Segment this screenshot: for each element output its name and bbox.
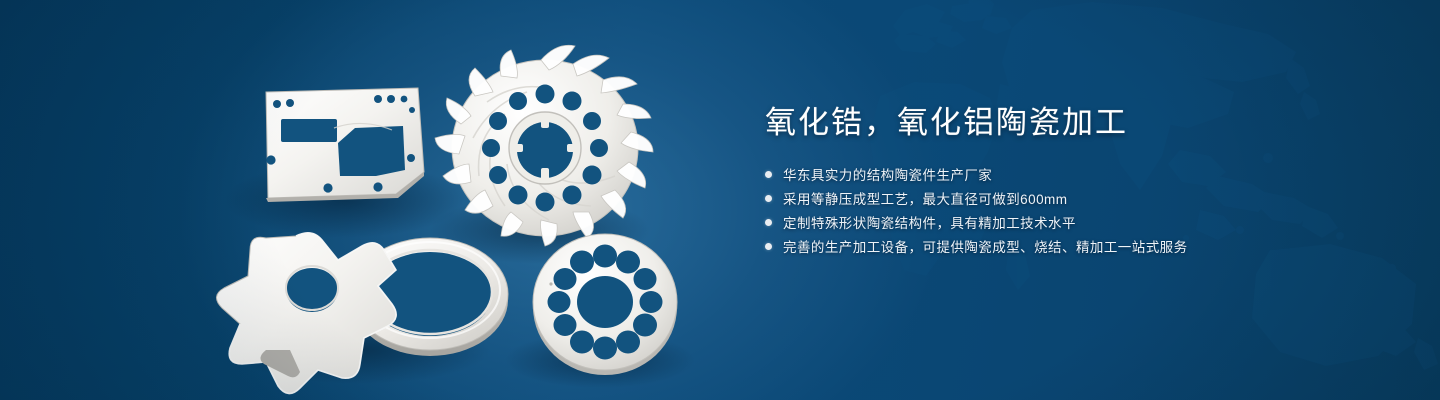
feature-bullet-item: 采用等静压成型工艺，最大直径可做到600mm xyxy=(765,187,1405,209)
feature-bullet-text: 采用等静压成型工艺，最大直径可做到600mm xyxy=(783,188,1067,208)
hero-banner: 氧化锆，氧化铝陶瓷加工 华东具实力的结构陶瓷件生产厂家 采用等静压成型工艺，最大… xyxy=(0,0,1440,400)
ceramic-perforated-disc-part xyxy=(533,234,677,375)
feature-bullet-text: 华东具实力的结构陶瓷件生产厂家 xyxy=(783,164,992,184)
bullet-dot-icon xyxy=(765,243,772,250)
bullet-dot-icon xyxy=(765,219,772,226)
bullet-dot-icon xyxy=(765,195,772,202)
feature-bullet-list: 华东具实力的结构陶瓷件生产厂家 采用等静压成型工艺，最大直径可做到600mm 定… xyxy=(765,163,1405,257)
feature-bullet-text: 完善的生产加工设备，可提供陶瓷成型、烧结、精加工一站式服务 xyxy=(783,236,1188,256)
feature-bullet-item: 华东具实力的结构陶瓷件生产厂家 xyxy=(765,163,1405,185)
feature-bullet-item: 定制特殊形状陶瓷结构件，具有精加工技术水平 xyxy=(765,211,1405,233)
banner-text-block: 氧化锆，氧化铝陶瓷加工 华东具实力的结构陶瓷件生产厂家 采用等静压成型工艺，最大… xyxy=(765,104,1405,273)
feature-bullet-item: 完善的生产加工设备，可提供陶瓷成型、烧结、精加工一站式服务 xyxy=(765,235,1405,257)
product-photo-group xyxy=(0,0,760,400)
feature-bullet-text: 定制特殊形状陶瓷结构件，具有精加工技术水平 xyxy=(783,212,1076,232)
banner-headline: 氧化锆，氧化铝陶瓷加工 xyxy=(765,104,1405,141)
bullet-dot-icon xyxy=(765,171,772,178)
ceramic-plate-part xyxy=(266,88,424,202)
